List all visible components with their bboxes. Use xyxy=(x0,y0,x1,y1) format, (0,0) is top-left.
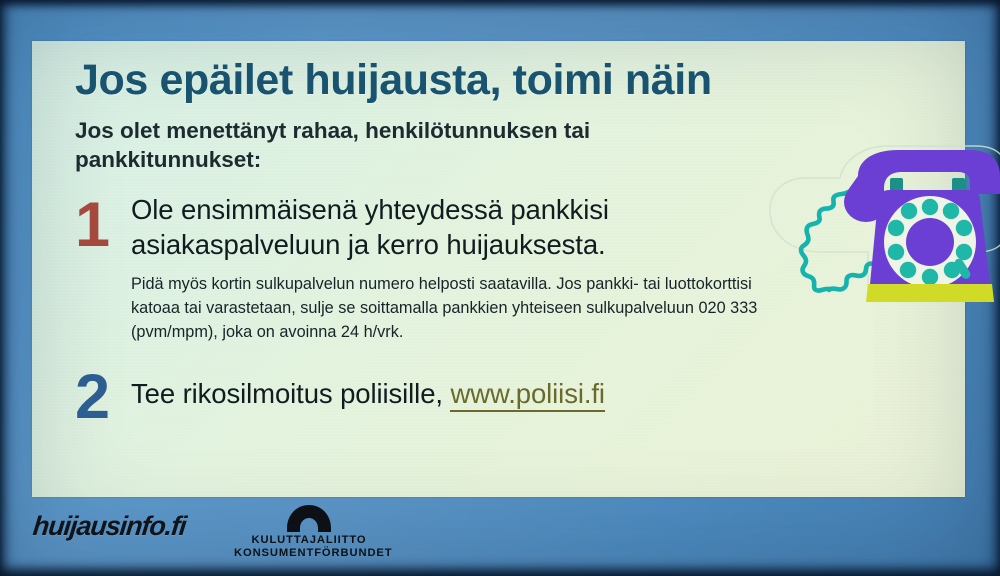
poliisi-link[interactable]: www.poliisi.fi xyxy=(450,378,604,412)
step-lead-2-text: Tee rikosilmoitus poliisille, xyxy=(131,378,450,409)
phone-base xyxy=(866,284,994,302)
step-content-2: Tee rikosilmoitus poliisille, www.poliis… xyxy=(131,368,805,412)
kuluttajaliitto-logo[interactable]: KULUTTAJALIITTO KONSUMENTFÖRBUNDET xyxy=(234,504,384,560)
step-item-1: 1 Ole ensimmäisenä yhteydessä pankkisi a… xyxy=(75,193,805,344)
step-number-2: 2 xyxy=(75,368,131,428)
kuluttajaliitto-line1: KULUTTAJALIITTO xyxy=(234,534,384,547)
subheading: Jos olet menettänyt rahaa, henkilötunnuk… xyxy=(75,117,715,174)
step-content-1: Ole ensimmäisenä yhteydessä pankkisi asi… xyxy=(131,193,805,344)
slide-canvas: Jos epäilet huijausta, toimi näin Jos ol… xyxy=(0,0,1000,576)
phone-dial xyxy=(884,196,976,288)
text-column: Jos epäilet huijausta, toimi näin Jos ol… xyxy=(75,56,805,428)
page-title: Jos epäilet huijausta, toimi näin xyxy=(75,56,805,104)
huijausinfo-logo[interactable]: huijausinfo.fi xyxy=(31,511,187,542)
arch-icon xyxy=(285,504,333,532)
step-lead-1: Ole ensimmäisenä yhteydessä pankkisi asi… xyxy=(131,193,805,263)
step-detail-1: Pidä myös kortin sulkupalvelun numero he… xyxy=(131,272,805,344)
footer-bar: huijausinfo.fi KULUTTAJALIITTO KONSUMENT… xyxy=(0,497,1000,576)
step-lead-2: Tee rikosilmoitus poliisille, www.poliis… xyxy=(131,368,805,412)
kuluttajaliitto-line2: KONSUMENTFÖRBUNDET xyxy=(234,547,384,560)
step-item-2: 2 Tee rikosilmoitus poliisille, www.poli… xyxy=(75,368,805,428)
step-number-1: 1 xyxy=(75,196,131,256)
